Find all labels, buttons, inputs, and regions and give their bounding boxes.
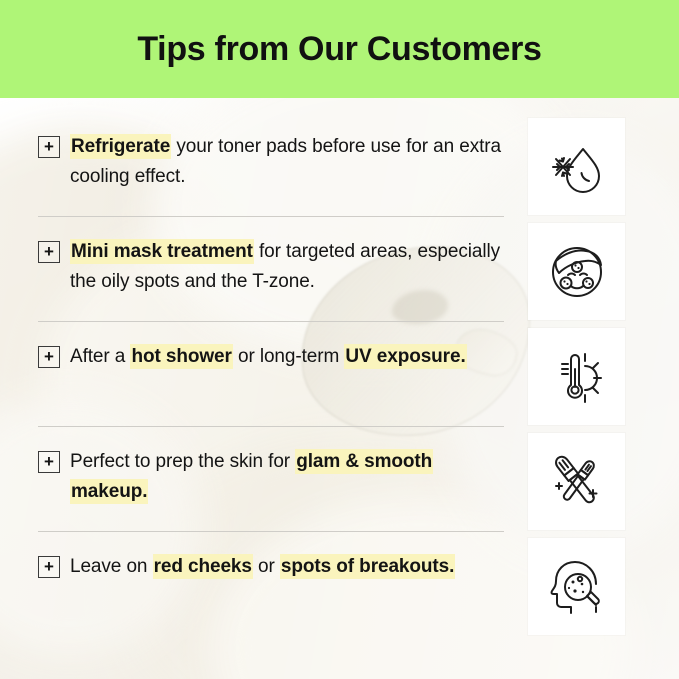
icon-box [528, 538, 625, 635]
page-title: Tips from Our Customers [137, 32, 541, 66]
face-magnifier-blemish-icon [545, 555, 609, 619]
tip-highlight: hot shower [130, 344, 232, 369]
plus-icon: + [44, 138, 54, 155]
tip-text: After a hot shower or long-term UV expos… [70, 342, 467, 372]
tip-text: Leave on red cheeks or spots of breakout… [70, 552, 455, 582]
tip-row[interactable]: + Refrigerate your toner pads before use… [38, 112, 504, 217]
tip-highlight: UV exposure. [344, 344, 466, 369]
tip-plain: or [253, 556, 280, 577]
plus-icon: + [44, 243, 54, 260]
tip-plain: Leave on [70, 556, 153, 577]
thermometer-sun-icon [545, 345, 609, 409]
tip-text: Perfect to prep the skin for glam & smoo… [70, 447, 504, 507]
tip-text: Refrigerate your toner pads before use f… [70, 132, 504, 192]
plus-icon: + [44, 558, 54, 575]
makeup-brushes-icon [545, 450, 609, 514]
expand-plus-button[interactable]: + [38, 451, 60, 473]
plus-icon: + [44, 348, 54, 365]
tip-row[interactable]: + Perfect to prep the skin for glam & sm… [38, 427, 504, 532]
icon-box [528, 328, 625, 425]
tip-highlight: spots of breakouts. [280, 554, 455, 579]
plus-icon: + [44, 453, 54, 470]
page-header: Tips from Our Customers [0, 0, 679, 98]
tip-row[interactable]: + Leave on red cheeks or spots of breako… [38, 532, 504, 637]
expand-plus-button[interactable]: + [38, 556, 60, 578]
tips-list: + Refrigerate your toner pads before use… [38, 112, 504, 637]
expand-plus-button[interactable]: + [38, 241, 60, 263]
icon-box [528, 433, 625, 530]
tip-highlight: Refrigerate [70, 134, 171, 159]
droplet-snowflake-icon [545, 135, 609, 199]
face-mask-patches-icon [545, 240, 609, 304]
tips-infographic-page: Tips from Our Customers + Refrigerate yo… [0, 0, 679, 679]
tip-plain: or long-term [233, 346, 345, 367]
expand-plus-button[interactable]: + [38, 346, 60, 368]
tip-text: Mini mask treatment for targeted areas, … [70, 237, 504, 297]
icon-column [528, 118, 625, 643]
expand-plus-button[interactable]: + [38, 136, 60, 158]
tip-row[interactable]: + After a hot shower or long-term UV exp… [38, 322, 504, 427]
tip-highlight: red cheeks [153, 554, 253, 579]
icon-box [528, 118, 625, 215]
tip-plain: Perfect to prep the skin for [70, 451, 295, 472]
tip-plain: After a [70, 346, 130, 367]
icon-box [528, 223, 625, 320]
tip-row[interactable]: + Mini mask treatment for targeted areas… [38, 217, 504, 322]
tip-highlight: Mini mask treatment [70, 239, 254, 264]
